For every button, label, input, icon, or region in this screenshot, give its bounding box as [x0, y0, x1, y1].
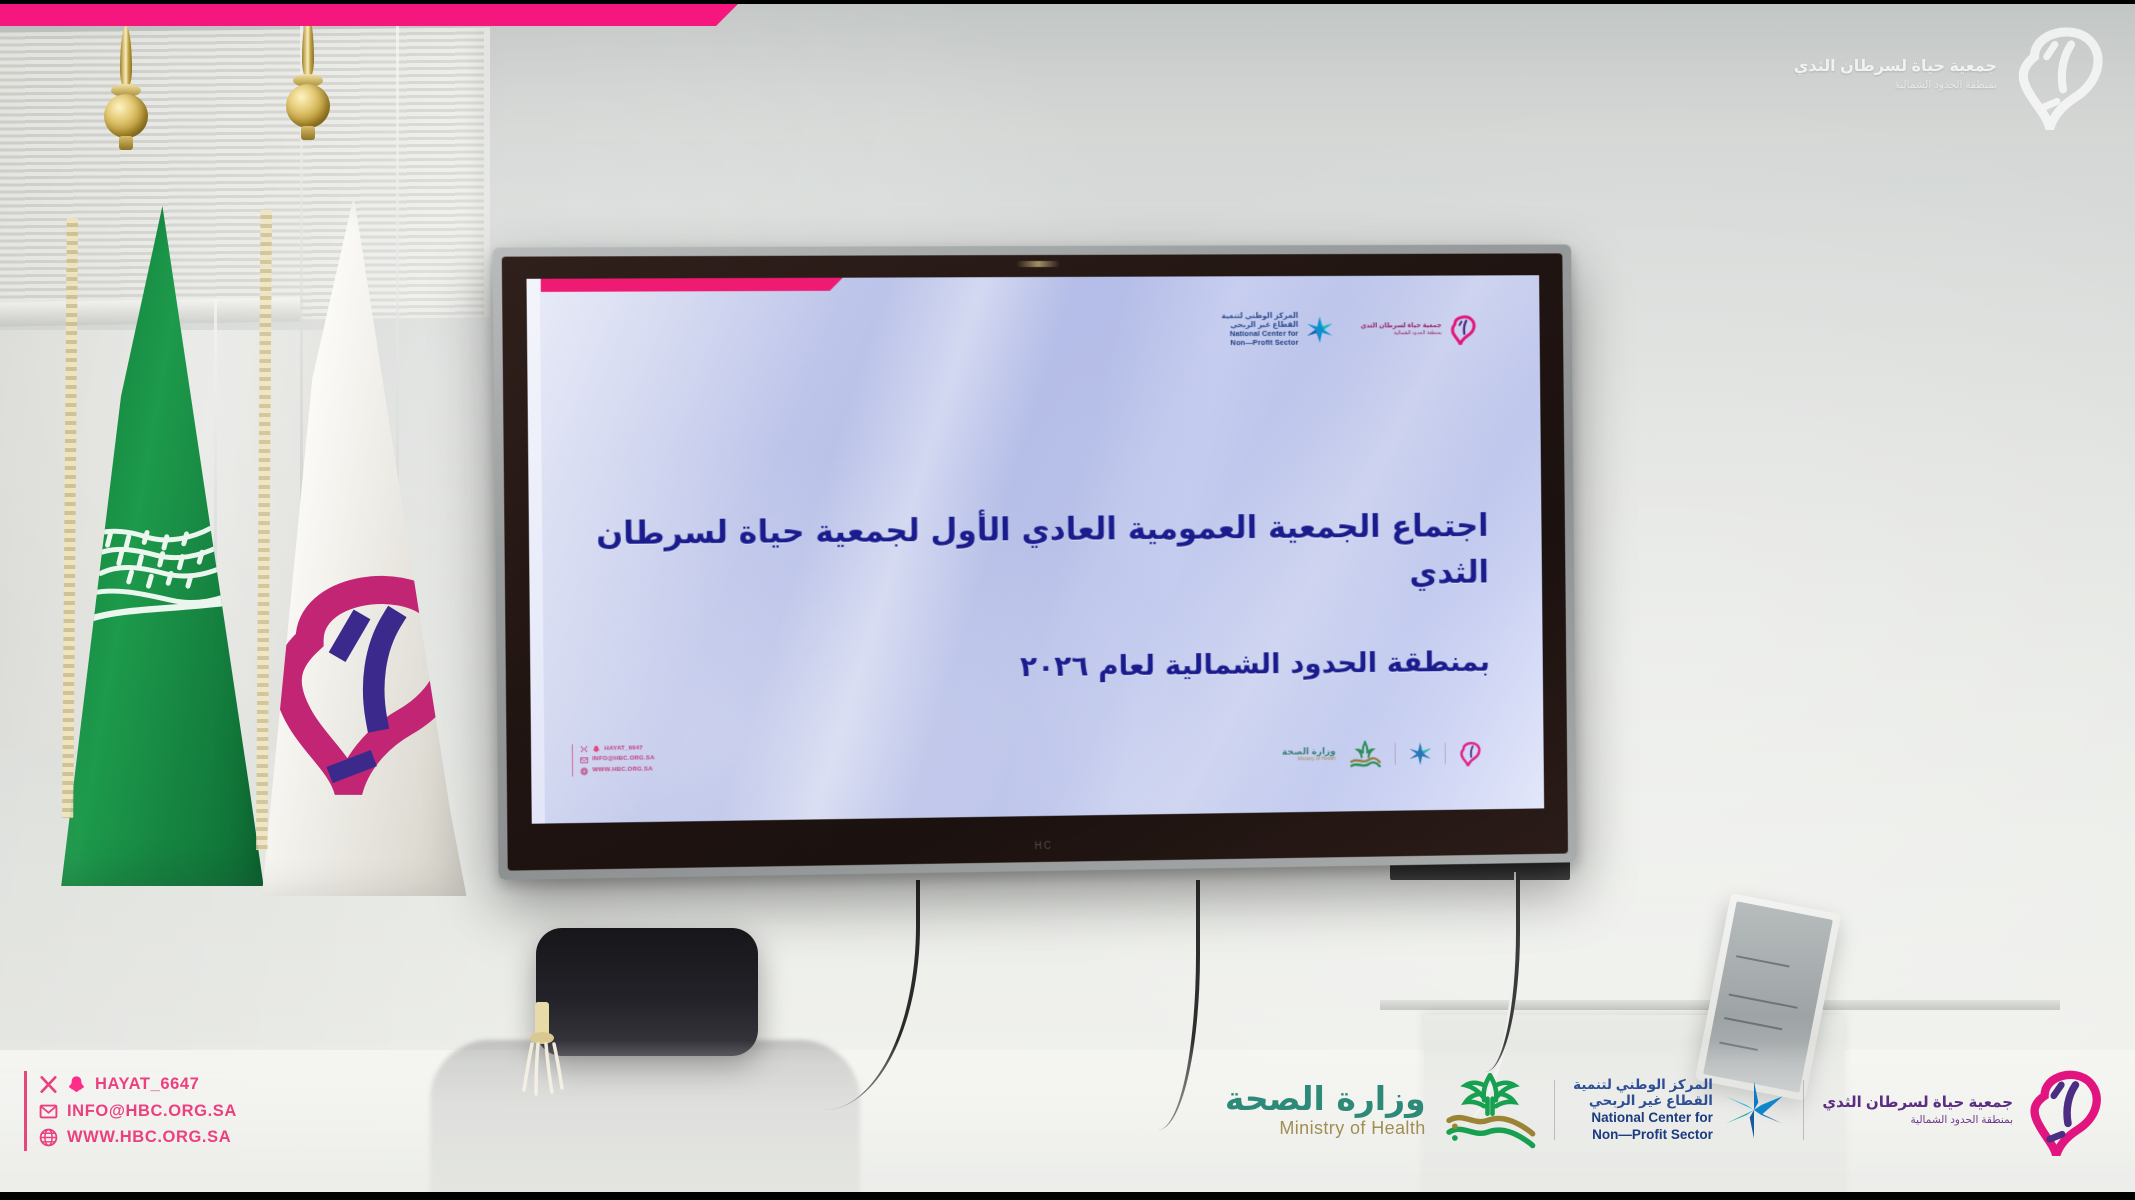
moh-logo: وزارة الصحة Ministry of Health [1225, 1082, 1426, 1138]
partner-logos-block: وزارة الصحة Ministry of Health [1225, 1064, 2111, 1156]
watermark-subtitle: بمنطقة الحدود الشمالية [1794, 78, 1997, 93]
hbc-ribbon-heart-icon [1457, 738, 1485, 768]
slide-title-block: اجتماع الجمعية العمومية العادي الأول لجم… [529, 503, 1490, 694]
email-text: INFO@HBC.ORG.SA [67, 1098, 237, 1125]
ncnp-name-en-2: Non—Profit Sector [1573, 1127, 1713, 1144]
slide-contact-block: HAYAT_6647 INFO@HBC.ORG.SA [572, 743, 655, 777]
ksa-emblem-icon [1347, 740, 1383, 768]
globe-icon [580, 767, 588, 775]
frame-edge-top [0, 0, 2135, 4]
ncnp-name-en-1: National Center for [1573, 1110, 1713, 1127]
ncnp-en-line2: Non—Profit Sector [1222, 338, 1299, 347]
slide-title-line-1: اجتماع الجمعية العمومية العادي الأول لجم… [529, 503, 1490, 605]
x-twitter-icon[interactable] [39, 1075, 58, 1094]
hbc-ar-name: جمعية حياة لسرطان الثدي [1360, 322, 1441, 330]
ncnp-logo-slide: المركز الوطني لتنمية القطاع غير الربحي N… [1221, 312, 1335, 348]
screenshot-stage: HC المركز الوطني لتنمية القطاع غير الربح… [0, 0, 2135, 1200]
social-handle-text: HAYAT_6647 [95, 1071, 199, 1098]
contact-info-block: HAYAT_6647 INFO@HBC.ORG.SA WWW.HBC.ORG.S… [24, 1071, 237, 1151]
slide-footer-logos: وزارة الصحة Ministry of Health [1282, 738, 1485, 771]
moh-logo-slide: وزارة الصحة Ministry of Health [1282, 747, 1336, 763]
tv-bezel: HC المركز الوطني لتنمية القطاع غير الربح… [502, 253, 1568, 870]
hbc-ribbon-heart-icon [2025, 1064, 2111, 1156]
envelope-icon[interactable] [39, 1102, 58, 1121]
hbc-ar-sub: بمنطقة الحدود الشمالية [1361, 330, 1442, 337]
envelope-icon [580, 756, 588, 764]
ncnp-star-icon [1305, 314, 1335, 344]
hbc-logo: جمعية حياة لسرطان الثدي بمنطقة الحدود ال… [1822, 1064, 2111, 1156]
tv-brand-label: HC [1034, 841, 1053, 852]
logo-divider [1803, 1080, 1805, 1140]
ncnp-name-ar-2: القطاع غير الربحي [1573, 1093, 1713, 1110]
moh-name-en: Ministry of Health [1279, 1119, 1425, 1138]
flagpole-finial [286, 16, 330, 166]
hbc-sub-ar: بمنطقة الحدود الشمالية [1822, 1113, 2013, 1127]
snapchat-icon [592, 745, 600, 753]
ncnp-star-icon [1407, 741, 1433, 767]
bottom-overlay-bar: HAYAT_6647 INFO@HBC.ORG.SA WWW.HBC.ORG.S… [0, 1040, 2135, 1200]
email-row[interactable]: INFO@HBC.ORG.SA [39, 1098, 237, 1125]
logo-divider [1554, 1080, 1556, 1140]
social-handle-row[interactable]: HAYAT_6647 [39, 1071, 237, 1098]
globe-icon[interactable] [39, 1128, 58, 1147]
flagpole-finial [104, 26, 148, 176]
slide-header-logos: المركز الوطني لتنمية القطاع غير الربحي N… [1221, 311, 1481, 347]
frame-edge-bottom [0, 1192, 2135, 1200]
slide-website: WWW.HBC.ORG.SA [592, 765, 653, 777]
moh-name-ar: وزارة الصحة [1225, 1082, 1426, 1117]
ksa-palm-swords-emblem-icon [1444, 1070, 1536, 1150]
hbc-ribbon-heart-icon [2011, 18, 2115, 130]
website-row[interactable]: WWW.HBC.ORG.SA [39, 1124, 237, 1151]
x-twitter-icon [580, 745, 588, 753]
slide-email: INFO@HBC.ORG.SA [592, 754, 655, 766]
chair-headrest [536, 928, 758, 1056]
top-right-watermark: جمعية حياة لسرطان الثدي بمنطقة الحدود ال… [1794, 18, 2115, 130]
wall-mounted-tv: HC المركز الوطني لتنمية القطاع غير الربح… [492, 244, 1576, 879]
ncnp-name-ar-1: المركز الوطني لتنمية [1573, 1077, 1713, 1094]
snapchat-icon[interactable] [67, 1075, 86, 1094]
slide-accent-bar [541, 278, 830, 292]
website-text: WWW.HBC.ORG.SA [67, 1124, 231, 1151]
ncnp-logo: المركز الوطني لتنمية القطاع غير الربحي N… [1573, 1077, 1785, 1144]
slide-social-handle: HAYAT_6647 [604, 743, 643, 754]
hbc-logo-slide: جمعية حياة لسرطان الثدي بمنطقة الحدود ال… [1360, 312, 1481, 346]
moh-en-slide: Ministry of Health [1297, 757, 1335, 763]
watermark-title: جمعية حياة لسرطان الثدي [1794, 55, 1997, 78]
slide-website-row: WWW.HBC.ORG.SA [580, 765, 655, 777]
hbc-ribbon-heart-icon [1447, 312, 1481, 346]
presentation-slide: المركز الوطني لتنمية القطاع غير الربحي N… [526, 275, 1544, 824]
hbc-name-ar: جمعية حياة لسرطان الثدي [1822, 1093, 2013, 1113]
tv-ir-sensor-icon [1016, 261, 1060, 267]
ncnp-star-icon [1723, 1079, 1785, 1141]
